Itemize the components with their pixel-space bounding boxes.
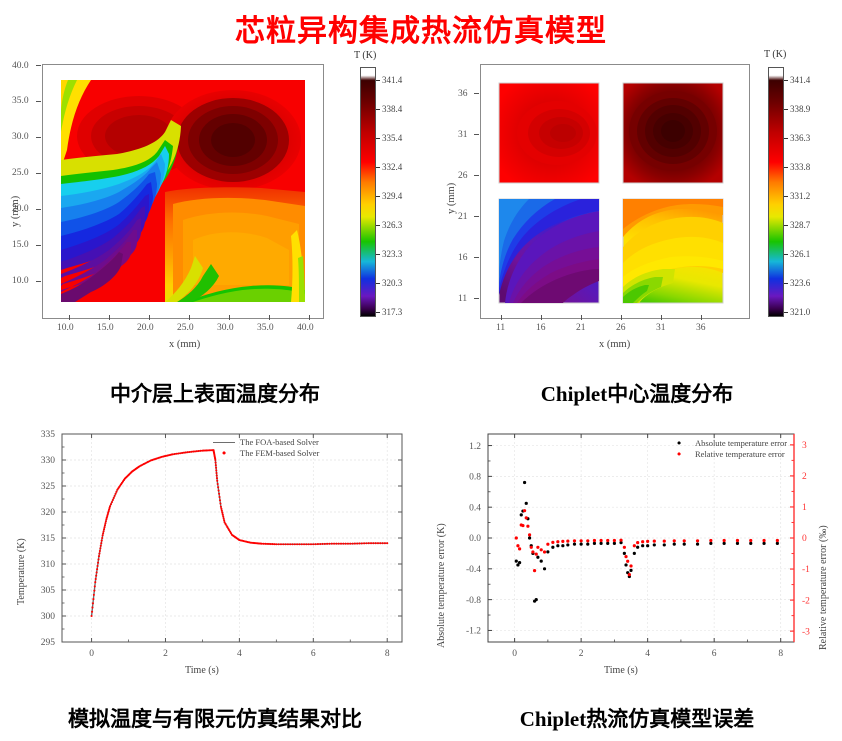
colorbar-tick [376,225,380,226]
colorbar-tick-label: 331.2 [790,191,810,201]
data-point [535,553,538,556]
ytick-mark [474,298,479,299]
data-point [220,508,222,510]
data-point [776,539,779,542]
xtick-mark [309,315,310,320]
page-title: 芯粒异构集成热流仿真模型 [0,6,842,50]
colorbar-tick [376,283,380,284]
ytick-mark [36,173,41,174]
data-point [215,462,217,464]
data-point [216,475,218,477]
ytick-label: 31 [458,130,468,140]
xtick-label: 0 [89,649,94,659]
data-point [321,543,323,545]
data-point [345,543,347,545]
colorbar-tick [784,138,788,139]
data-point [97,562,99,564]
data-point [379,542,381,544]
data-point [646,544,649,547]
data-point [181,452,183,454]
series-points-relative [515,509,779,576]
data-point [663,540,666,543]
y-axis-title-left: Absolute temperature error (K) [436,523,447,648]
data-point [613,539,616,542]
data-point [215,469,217,471]
data-point [521,524,524,527]
ytick-label: 295 [41,638,56,648]
data-point [375,542,377,544]
xtick-mark [109,315,110,320]
data-point [100,545,102,547]
data-point [368,542,370,544]
ytick-mark [36,281,41,282]
data-point [641,540,644,543]
ytick-label-left: 0.8 [469,473,481,483]
data-point [103,526,105,528]
data-point [91,607,93,609]
colorbar-gradient-1 [360,67,376,317]
data-point [566,543,569,546]
xtick-mark [501,315,502,320]
data-point [109,505,111,507]
colorbar-tick [784,283,788,284]
data-point [599,542,602,545]
xtick-label: 6 [712,649,717,659]
data-point [663,543,666,546]
data-point [328,543,330,545]
panel-temperature-comparison: 29530030531031532032533033502468 Tempera… [10,420,420,700]
xtick-label: 4 [237,649,242,659]
data-point [331,543,333,545]
data-point [174,453,176,455]
data-point [218,496,220,498]
colorbar-tick [376,167,380,168]
data-point [111,501,113,503]
data-point [593,539,596,542]
data-point [629,564,632,567]
ytick-label: 30.0 [12,132,29,142]
colorbar-tick-label: 328.7 [790,220,810,230]
data-point [102,534,104,536]
ytick-label: 11 [458,294,467,304]
data-point [97,558,99,560]
xtick-label: 8 [385,649,390,659]
ytick-label-right: 2 [802,472,807,482]
xtick-mark [661,315,662,320]
data-point [372,542,374,544]
data-point [285,543,287,545]
data-point [566,540,569,543]
data-point [223,519,225,521]
panel-caption-1: 中介层上表面温度分布 [10,378,420,408]
colorbar-tick [376,254,380,255]
legend-label: Relative temperature error [695,449,785,460]
data-point [196,450,198,452]
data-point [628,573,631,576]
ytick-label-right: 3 [802,441,807,451]
y-axis-title: Temperature (K) [16,538,27,605]
data-point [526,525,529,528]
colorbar-tick-label: 333.8 [790,162,810,172]
data-point [219,499,221,501]
xtick-label: 8 [778,649,783,659]
ytick-label: 335 [41,430,56,440]
data-point [266,543,268,545]
data-point [194,450,196,452]
ytick-label-left: -0.4 [466,565,481,575]
xtick-label: 21 [576,323,586,333]
xtick-label: 2 [163,649,168,659]
data-point [543,550,546,553]
y-axis-title-right: Relative temperature error (‰) [818,525,829,650]
data-point [386,542,388,544]
data-point [315,543,317,545]
data-point [183,452,185,454]
legend-label: The FEM-based Solver [240,448,319,459]
data-point [94,581,96,583]
data-point [723,542,726,545]
data-point [749,539,752,542]
data-point [298,543,300,545]
data-point [629,569,632,572]
ytick-label-left: -1.2 [466,627,481,637]
data-point [222,514,224,516]
colorbar-tick [376,138,380,139]
data-point [214,459,216,461]
data-point [270,543,272,545]
data-point [333,543,335,545]
ytick-label: 10.0 [12,276,29,286]
ytick-mark [474,257,479,258]
contour-canvas-2 [481,65,749,318]
data-point [370,542,372,544]
data-point [593,542,596,545]
data-point [192,451,194,453]
data-point [515,536,518,539]
data-point [573,539,576,542]
data-point [536,556,539,559]
x-axis-title: Time (s) [185,665,219,676]
data-point [520,513,523,516]
data-point [561,544,564,547]
legend-item-relative-error: • Relative temperature error [668,449,787,460]
ytick-mark [36,137,41,138]
x-axis-title: x (mm) [599,339,630,350]
data-point [176,453,178,455]
colorbar-tick-label: 321.0 [790,307,810,317]
data-point [101,537,103,539]
data-point [556,544,559,547]
data-point [188,451,190,453]
line-chart-canvas: 29530030531031532032533033502468 [10,420,420,680]
colorbar-tick-label: 323.3 [382,249,402,259]
ytick-label-left: 1.2 [469,442,481,452]
colorbar-tick [784,167,788,168]
data-point [217,486,219,488]
data-point [533,569,536,572]
data-point [599,539,602,542]
data-point [91,611,93,613]
ytick-label: 330 [41,456,56,466]
data-point [262,543,264,545]
xtick-label: 11 [496,323,505,333]
data-point [275,543,277,545]
ytick-label: 320 [41,508,56,518]
colorbar-tick-label: 341.4 [790,75,810,85]
xtick-label: 6 [311,649,316,659]
data-point [91,615,93,617]
legend-line-swatch [213,442,235,444]
data-point [586,539,589,542]
data-point [709,539,712,542]
data-point [709,542,712,545]
data-point [97,565,99,567]
ytick-mark [474,93,479,94]
data-point [326,543,328,545]
data-point [561,540,564,543]
data-point [105,520,107,522]
colorbar-tick [784,109,788,110]
data-point [776,542,779,545]
data-point [543,567,546,570]
data-point [114,495,116,497]
colorbar-tick-label: 338.4 [382,104,402,114]
data-point [217,483,219,485]
data-point [580,539,583,542]
data-point [626,560,629,563]
ytick-label-left: 0.0 [469,534,481,544]
data-point [546,550,549,553]
colorbar-tick [376,80,380,81]
data-point [179,452,181,454]
data-point [540,548,543,551]
ytick-label: 310 [41,560,56,570]
panel-caption-4: Chiplet热流仿真模型误差 [432,703,842,733]
legend-4: • Absolute temperature error • Relative … [668,438,787,460]
data-point [531,550,534,553]
ytick-label: 25.0 [12,168,29,178]
data-point [525,516,528,519]
data-point [551,541,554,544]
data-point [623,552,626,555]
xtick-label: 36 [696,323,706,333]
data-point [324,543,326,545]
xtick-label: 20.0 [137,323,154,333]
colorbar-tick [376,109,380,110]
legend-dot-swatch: • [668,441,690,447]
data-point [653,543,656,546]
x-axis-title: Time (s) [604,665,638,676]
data-point [338,543,340,545]
xtick-mark [69,315,70,320]
data-point [319,543,321,545]
data-point [305,543,307,545]
panel-caption-2: Chiplet中心温度分布 [432,378,842,408]
data-point [99,547,101,549]
xtick-label: 30.0 [217,323,234,333]
panel-error-scatter: -1.2-0.8-0.40.00.40.81.2-3-2-1012302468 … [432,420,842,700]
data-point [515,560,518,563]
colorbar-tick-label: 323.6 [790,278,810,288]
data-point [272,543,274,545]
ytick-label-right: 1 [802,503,807,513]
data-point [280,543,282,545]
y-axis-title: y (mm) [10,196,21,227]
data-point [382,542,384,544]
ytick-mark [36,245,41,246]
legend-item-fem: • The FEM-based Solver [213,448,319,459]
ytick-label: 15.0 [12,240,29,250]
data-point [641,544,644,547]
colorbar-tick [784,312,788,313]
data-point [523,509,526,512]
ytick-label-right: -3 [802,627,810,637]
data-point [673,539,676,542]
data-point [586,543,589,546]
colorbar-tick [376,196,380,197]
colorbar-title: T (K) [764,49,786,60]
data-point [294,543,296,545]
data-point [296,543,298,545]
data-point [261,543,263,545]
colorbar-tick-label: 329.4 [382,191,402,201]
ytick-mark [36,209,41,210]
data-point [96,571,98,573]
data-point [683,543,686,546]
data-point [696,543,699,546]
data-point [223,517,225,519]
legend-dot-swatch: • [668,452,690,458]
xtick-label: 35.0 [257,323,274,333]
data-point [218,493,220,495]
data-point [190,451,192,453]
data-point [624,563,627,566]
xtick-label: 16 [536,323,546,333]
data-point [361,542,363,544]
colorbar-tick-label: 326.3 [382,220,402,230]
ytick-label: 40.0 [12,61,29,71]
ytick-label-right: -2 [802,596,810,606]
legend-label: Absolute temperature error [695,438,787,449]
data-point [221,510,223,512]
data-point [556,540,559,543]
xtick-mark [269,315,270,320]
xtick-mark [541,315,542,320]
data-point [110,503,112,505]
data-point [220,506,222,508]
colorbar-tick [376,312,380,313]
data-point [216,480,218,482]
data-point [96,568,98,570]
data-point [104,524,106,526]
data-point [103,530,105,532]
data-point [187,451,189,453]
data-point [93,590,95,592]
data-point [528,533,531,536]
colorbar-tick-label: 320.3 [382,278,402,288]
xtick-mark [189,315,190,320]
data-point [606,542,609,545]
data-point [312,543,314,545]
ytick-label-right: 0 [802,534,807,544]
xtick-mark [621,315,622,320]
data-point [736,539,739,542]
data-point [696,539,699,542]
data-point [264,543,266,545]
data-point [523,481,526,484]
data-point [95,578,97,580]
data-point [115,493,117,495]
data-point [347,543,349,545]
legend-3: The FOA-based Solver • The FEM-based Sol… [213,437,319,459]
data-point [673,543,676,546]
data-point [115,491,117,493]
data-point [551,546,554,549]
data-point [352,543,354,545]
colorbar-tick-label: 341.4 [382,75,402,85]
data-point [723,539,726,542]
data-point [287,543,289,545]
data-point [268,543,270,545]
colorbar-tick-label: 332.4 [382,162,402,172]
data-point [335,543,337,545]
data-point [93,594,95,596]
ytick-label: 21 [458,212,468,222]
data-point [613,542,616,545]
data-point [98,553,100,555]
data-point [101,540,103,542]
colorbar-tick [784,225,788,226]
data-point [546,543,549,546]
data-point [92,598,94,600]
data-point [308,543,310,545]
data-point [363,542,365,544]
data-point [530,546,533,549]
data-point [215,467,217,469]
xtick-label: 40.0 [297,323,314,333]
data-point [100,542,102,544]
data-point [282,543,284,545]
ytick-label: 35.0 [12,96,29,106]
data-point [200,450,202,452]
ytick-label: 325 [41,482,56,492]
data-point [219,503,221,505]
data-point [646,540,649,543]
data-point [536,546,539,549]
data-point [535,598,538,601]
data-point [94,585,96,587]
data-point [528,536,531,539]
data-point [636,546,639,549]
panel-interposer-temperature: 40.0 35.0 30.0 25.0 20.0 15.0 10.0 y (mm… [10,52,420,372]
data-point [358,542,360,544]
data-point [354,543,356,545]
colorbar-tick-label: 326.1 [790,249,810,259]
xtick-label: 26 [616,323,626,333]
data-point [573,543,576,546]
ytick-label: 315 [41,534,56,544]
data-point [317,543,319,545]
data-point [92,602,94,604]
ytick-label: 16 [458,253,468,263]
contour-plot-1 [42,64,324,319]
colorbar-title: T (K) [354,50,376,61]
poster-page: 芯粒异构集成热流仿真模型 [0,0,842,741]
data-point [198,450,200,452]
xtick-label: 15.0 [97,323,114,333]
data-point [619,539,622,542]
xtick-mark [149,315,150,320]
